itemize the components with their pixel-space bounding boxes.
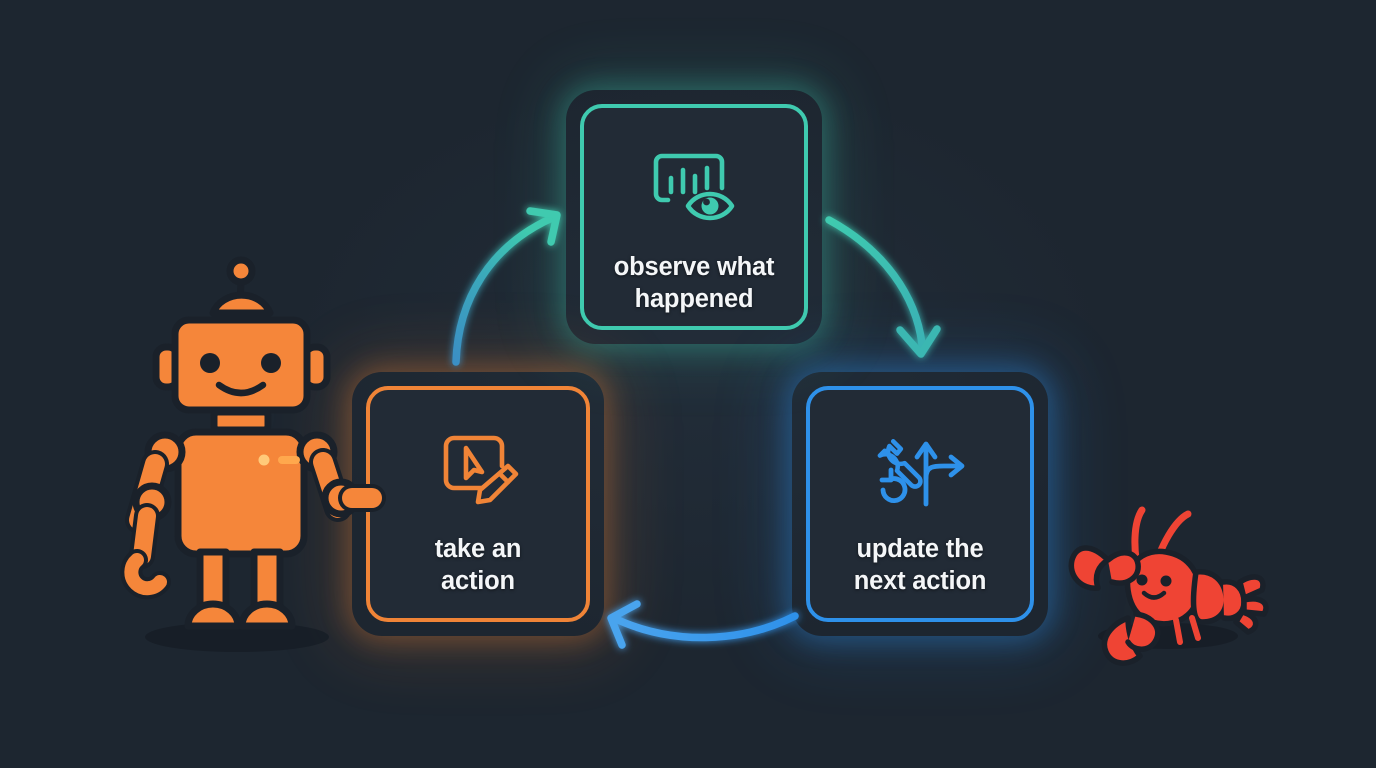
lobster-claw-lower-pincer (1128, 614, 1158, 649)
lobster-tail-1 (1194, 572, 1227, 622)
lobster-eye-left (1137, 575, 1148, 586)
lobster-fan-top (1240, 577, 1263, 598)
diagram-canvas: observe what happened update the next ac… (0, 0, 1376, 768)
lobster-mascot (0, 0, 1376, 768)
lobster-fan-bottom (1236, 612, 1256, 632)
lobster-eye-right (1161, 576, 1172, 587)
lobster-claw-upper-pincer (1108, 553, 1138, 583)
lobster-claw-upper (1071, 548, 1108, 588)
